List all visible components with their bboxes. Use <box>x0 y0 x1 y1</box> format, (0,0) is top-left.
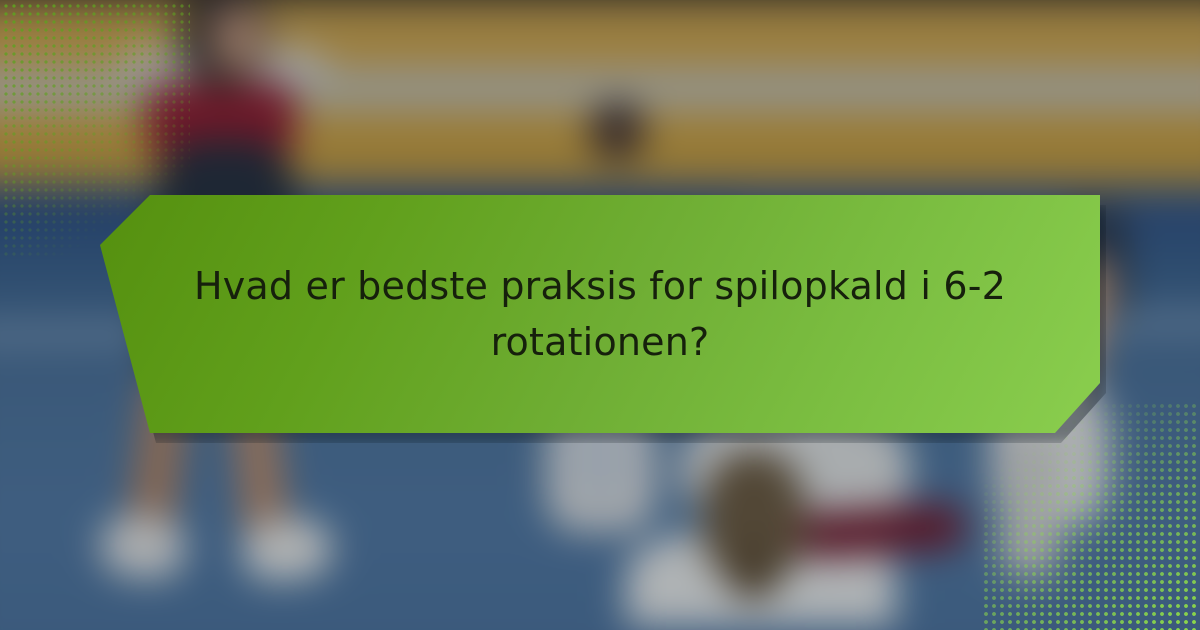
headline-text: Hvad er bedste praksis for spilopkald i … <box>100 195 1100 433</box>
headline-banner: Hvad er bedste praksis for spilopkald i … <box>100 195 1100 433</box>
share-card: Hvad er bedste praksis for spilopkald i … <box>0 0 1200 630</box>
